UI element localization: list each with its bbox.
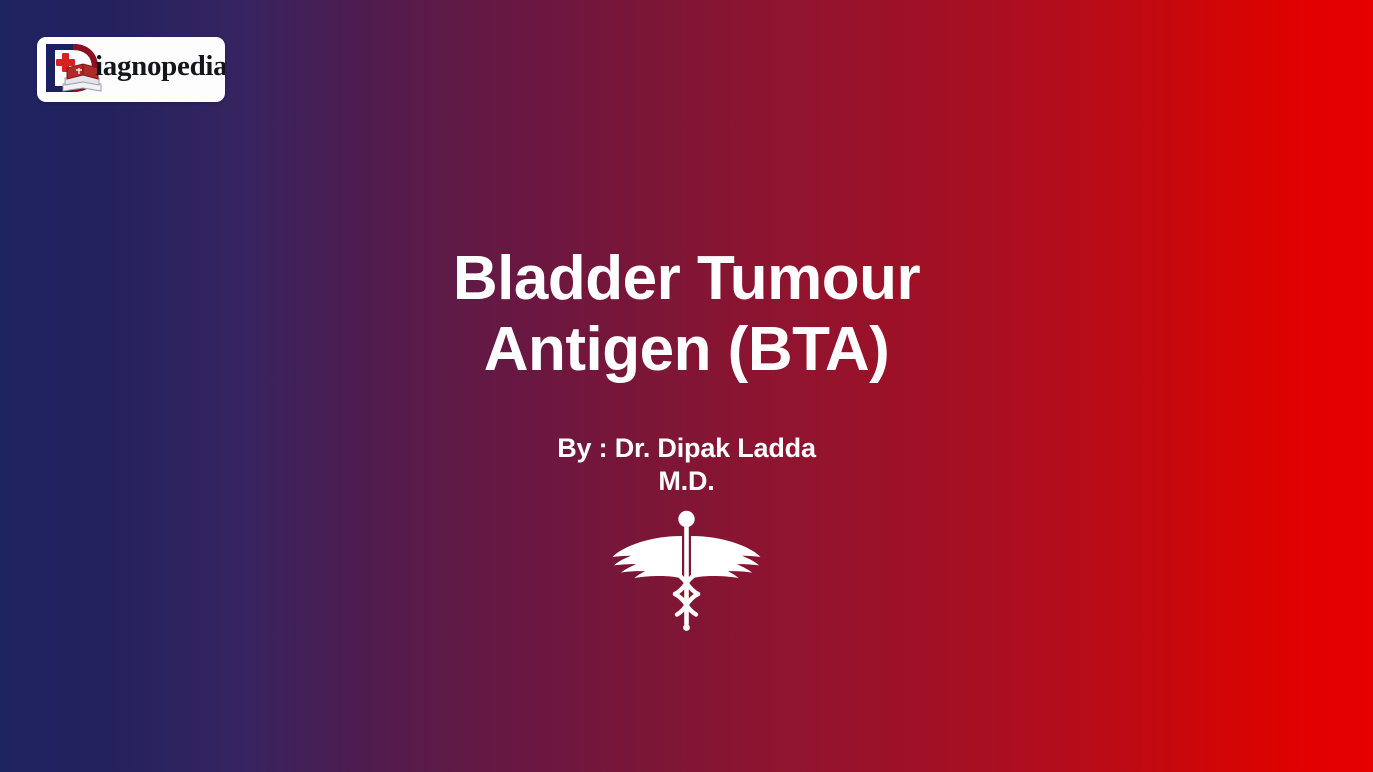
caduceus-icon xyxy=(611,508,762,632)
page-title-line-1: Bladder Tumour xyxy=(0,243,1373,314)
author-name: By : Dr. Dipak Ladda xyxy=(0,432,1373,465)
diagnopedia-logo[interactable]: iagnopedia xyxy=(37,37,225,102)
page-title: Bladder Tumour Antigen (BTA) xyxy=(0,243,1373,385)
logo-wordmark: iagnopedia xyxy=(95,50,225,83)
logo-inner: iagnopedia xyxy=(37,37,225,102)
author-byline: By : Dr. Dipak Ladda M.D. xyxy=(0,432,1373,498)
presentation-slide: iagnopedia Bladder Tumour Antigen (BTA) … xyxy=(0,0,1373,772)
author-credentials: M.D. xyxy=(0,465,1373,498)
page-title-line-2: Antigen (BTA) xyxy=(0,314,1373,385)
